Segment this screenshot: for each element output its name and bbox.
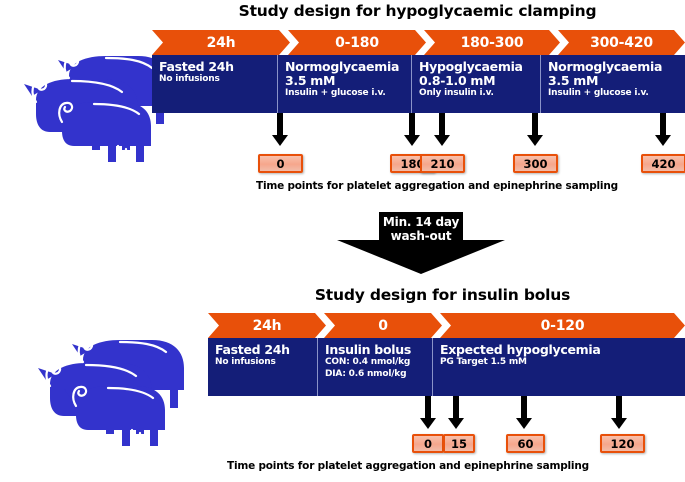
timeline-segment-2: 0-180 <box>288 30 426 55</box>
phase-title: Expected hypoglycemia <box>440 343 685 357</box>
study-1-caption: Time points for platelet aggregation and… <box>256 180 618 192</box>
phase-box-normoglycaemia-2: Normoglycaemia 3.5 mM Insulin + glucose … <box>541 55 685 113</box>
phase-box-fasted: Fasted 24h No infusions <box>208 338 318 396</box>
phase-title: Fasted 24h <box>159 60 277 74</box>
washout-line-1: Min. 14 day <box>337 215 505 229</box>
down-arrow-icon <box>611 396 627 429</box>
timeline-segment-3: 0-120 <box>440 313 685 338</box>
timeline-segment-2: 0 <box>324 313 442 338</box>
washout-line-2: wash-out <box>337 229 505 243</box>
down-arrow-icon <box>420 396 436 429</box>
down-arrow-icon <box>404 113 420 146</box>
timeline-segment-1: 24h <box>208 313 326 338</box>
washout-arrow-icon: Min. 14 day wash-out <box>337 212 505 274</box>
phase-title: Insulin bolus <box>325 343 432 357</box>
phase-line: No infusions <box>159 74 277 86</box>
phase-title: Hypoglycaemia <box>419 60 540 74</box>
phase-line: No infusions <box>215 357 317 369</box>
phase-line: PG Target 1.5 mM <box>440 357 685 369</box>
timepoint-box: 15 <box>443 434 475 453</box>
phase-subtitle: 3.5 mM <box>285 74 411 88</box>
timepoint-box: 0 <box>258 154 303 173</box>
down-arrow-icon <box>434 113 450 146</box>
study-2-caption: Time points for platelet aggregation and… <box>227 460 589 472</box>
study-2-timeline: 24h 0 0-120 <box>208 313 685 338</box>
phase-line: Insulin + glucose i.v. <box>548 88 685 100</box>
phase-title: Fasted 24h <box>215 343 317 357</box>
timepoint-box: 210 <box>420 154 465 173</box>
down-arrow-icon <box>527 113 543 146</box>
study-1-timeline: 24h 0-180 180-300 300-420 <box>152 30 685 55</box>
phase-line: CON: 0.4 nmol/kg <box>325 357 432 369</box>
down-arrow-icon <box>272 113 288 146</box>
phase-box-fasted: Fasted 24h No infusions <box>152 55 278 113</box>
pig-group-icon <box>28 330 188 452</box>
timeline-segment-4: 300-420 <box>558 30 685 55</box>
phase-subtitle: 3.5 mM <box>548 74 685 88</box>
phase-title: Normoglycaemia <box>548 60 685 74</box>
study-1-title: Study design for hypoglycaemic clamping <box>150 2 685 20</box>
study-2-title: Study design for insulin bolus <box>200 286 685 304</box>
phase-line: Insulin + glucose i.v. <box>285 88 411 100</box>
timeline-segment-3: 180-300 <box>424 30 560 55</box>
timepoint-box: 420 <box>641 154 685 173</box>
phase-box-expected-hypoglycemia: Expected hypoglycemia PG Target 1.5 mM <box>433 338 685 396</box>
timepoint-box: 60 <box>506 434 545 453</box>
phase-line: DIA: 0.6 nmol/kg <box>325 369 432 381</box>
timepoint-box: 120 <box>600 434 645 453</box>
phase-line: Only insulin i.v. <box>419 88 540 100</box>
phase-box-hypoglycaemia: Hypoglycaemia 0.8-1.0 mM Only insulin i.… <box>412 55 541 113</box>
pig-group-icon <box>14 46 174 168</box>
phase-box-normoglycaemia-1: Normoglycaemia 3.5 mM Insulin + glucose … <box>278 55 412 113</box>
phase-subtitle: 0.8-1.0 mM <box>419 74 540 88</box>
timeline-segment-1: 24h <box>152 30 290 55</box>
study-2-phases: Fasted 24h No infusions Insulin bolus CO… <box>208 338 685 396</box>
study-1-phases: Fasted 24h No infusions Normoglycaemia 3… <box>152 55 685 113</box>
phase-title: Normoglycaemia <box>285 60 411 74</box>
timepoint-box: 300 <box>513 154 558 173</box>
phase-box-insulin-bolus: Insulin bolus CON: 0.4 nmol/kg DIA: 0.6 … <box>318 338 433 396</box>
down-arrow-icon <box>448 396 464 429</box>
down-arrow-icon <box>655 113 671 146</box>
timepoint-box: 0 <box>412 434 444 453</box>
down-arrow-icon <box>516 396 532 429</box>
